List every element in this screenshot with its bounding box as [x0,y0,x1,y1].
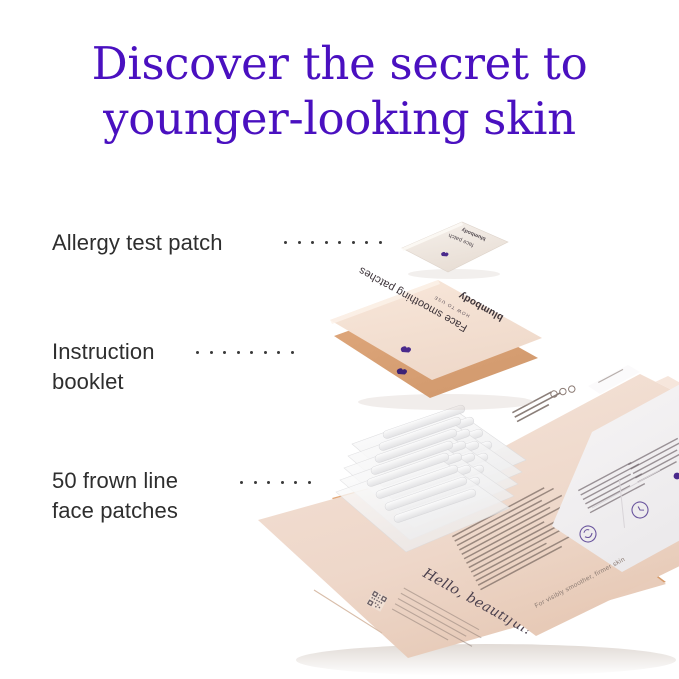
leader-dots-instruction-booklet [196,351,304,354]
instruction-booklet-image: blumbody HOW TO USE Face smoothing patch… [326,276,552,412]
leader-dot [250,351,253,354]
leader-dot [325,241,328,244]
leader-dot [379,241,382,244]
sachet-body [402,222,508,272]
allergy-test-sachet-image: blumbody face patch [396,216,514,282]
product-infographic: Discover the secret to younger-looking s… [0,0,679,679]
leader-dot [352,241,355,244]
folder-bullet-icons [550,381,576,402]
leader-dots-allergy-test-patch [284,241,392,244]
callout-label-frown-line-patches: 50 frown line face patches [52,466,178,526]
booklet-shadow [358,394,534,410]
leader-dot [237,351,240,354]
callout-label-instruction-booklet: Instruction booklet [52,337,155,397]
leader-dot [311,241,314,244]
leader-dot [365,241,368,244]
leader-dot [210,351,213,354]
patch-sheet-stack [330,408,540,526]
page-title: Discover the secret to younger-looking s… [0,36,679,146]
leader-dot [338,241,341,244]
folder-shadow [296,644,676,676]
leader-dot [223,351,226,354]
sachet-shadow [408,269,500,279]
leader-dot [284,241,287,244]
leader-dot [277,351,280,354]
leader-dot [264,351,267,354]
leader-dot [291,351,294,354]
leader-dot [196,351,199,354]
callout-label-allergy-test-patch: Allergy test patch [52,228,223,258]
leader-dot [298,241,301,244]
